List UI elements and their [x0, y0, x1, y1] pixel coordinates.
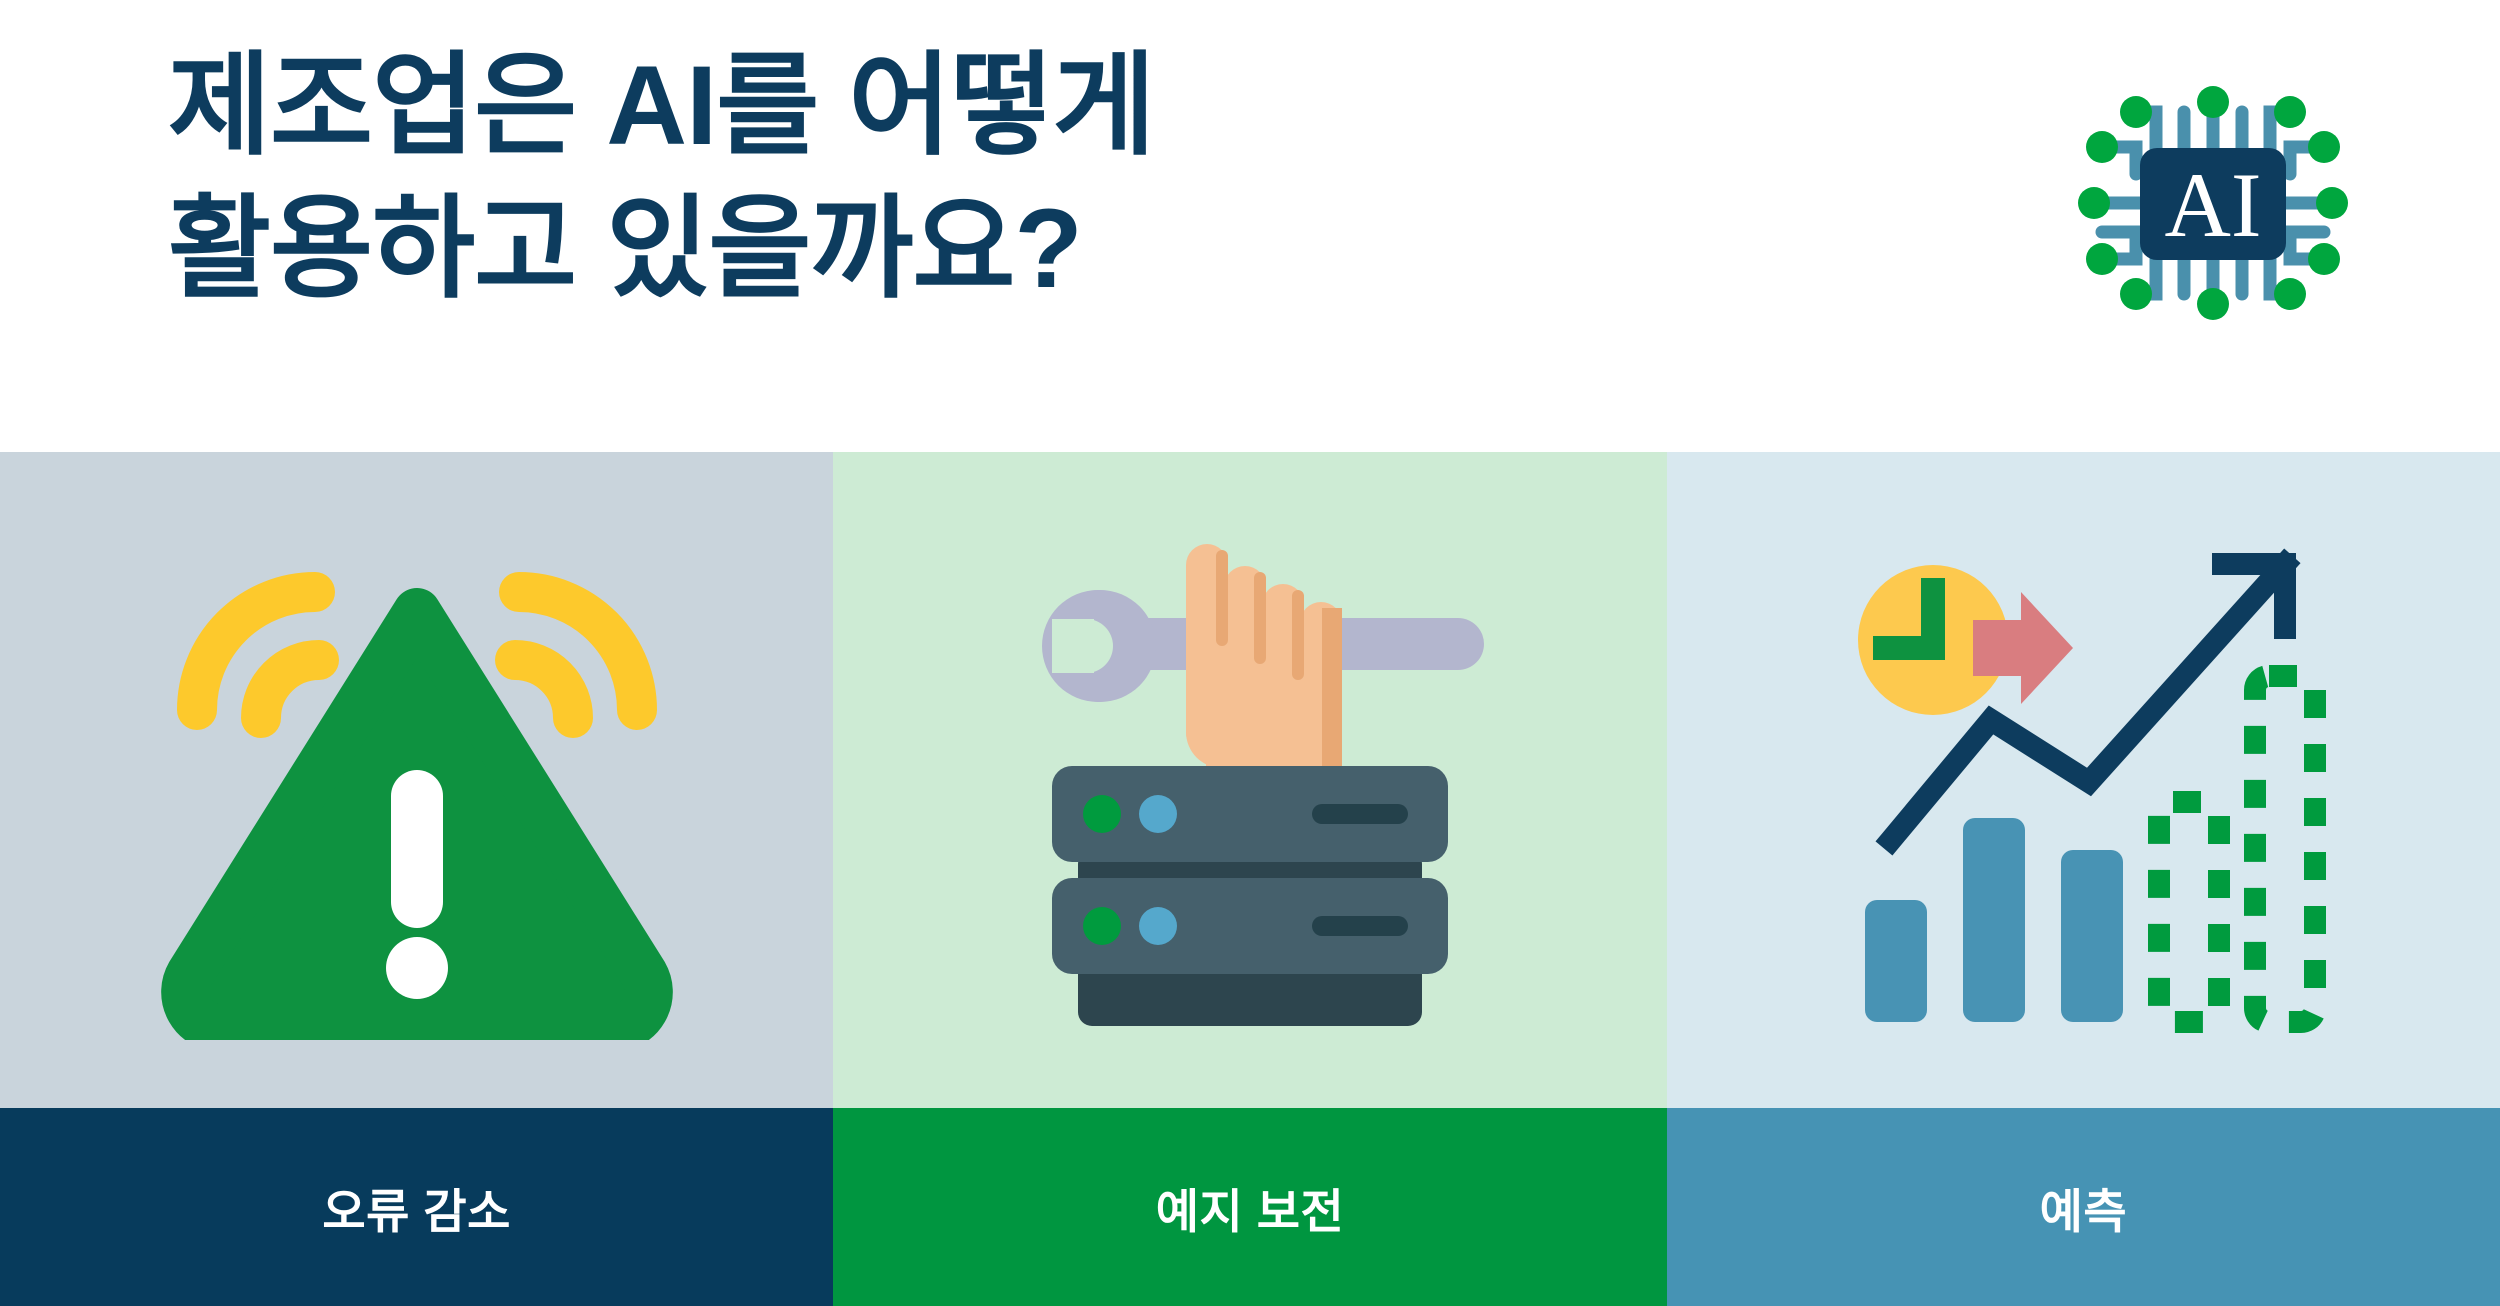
- warning-triangle-signal-icon: [157, 520, 677, 1040]
- title-line-1: 제조업은 AI를 어떻게: [168, 34, 1668, 177]
- hand-wrench-server-icon: [990, 520, 1510, 1040]
- footer-label-strip: 오류 감소 예지 보전 예측: [0, 1108, 2500, 1306]
- infographic-poster: 제조업은 AI를 어떻게 활용하고 있을까요?: [0, 0, 2500, 1306]
- ai-chip-icon: AI: [2068, 58, 2358, 348]
- header-band: 제조업은 AI를 어떻게 활용하고 있을까요?: [0, 0, 2500, 452]
- footer-label-prediction: 예측: [2040, 1173, 2127, 1242]
- footer-band-predictive-maintenance[interactable]: 예지 보전: [833, 1108, 1666, 1306]
- panel-strip: [0, 452, 2500, 1108]
- footer-label-predictive-maintenance: 예지 보전: [1156, 1173, 1345, 1242]
- footer-label-error-reduction: 오류 감소: [322, 1173, 511, 1242]
- footer-band-prediction[interactable]: 예측: [1667, 1108, 2500, 1306]
- page-title: 제조업은 AI를 어떻게 활용하고 있을까요?: [168, 34, 1668, 321]
- panel-error-reduction[interactable]: [0, 452, 833, 1108]
- title-line-2: 활용하고 있을까요?: [168, 177, 1668, 320]
- ai-chip-label: AI: [2164, 154, 2261, 256]
- panel-prediction[interactable]: [1667, 452, 2500, 1108]
- trend-chart-clock-arrow-icon: [1823, 520, 2343, 1040]
- footer-band-error-reduction[interactable]: 오류 감소: [0, 1108, 833, 1306]
- panel-predictive-maintenance[interactable]: [833, 452, 1666, 1108]
